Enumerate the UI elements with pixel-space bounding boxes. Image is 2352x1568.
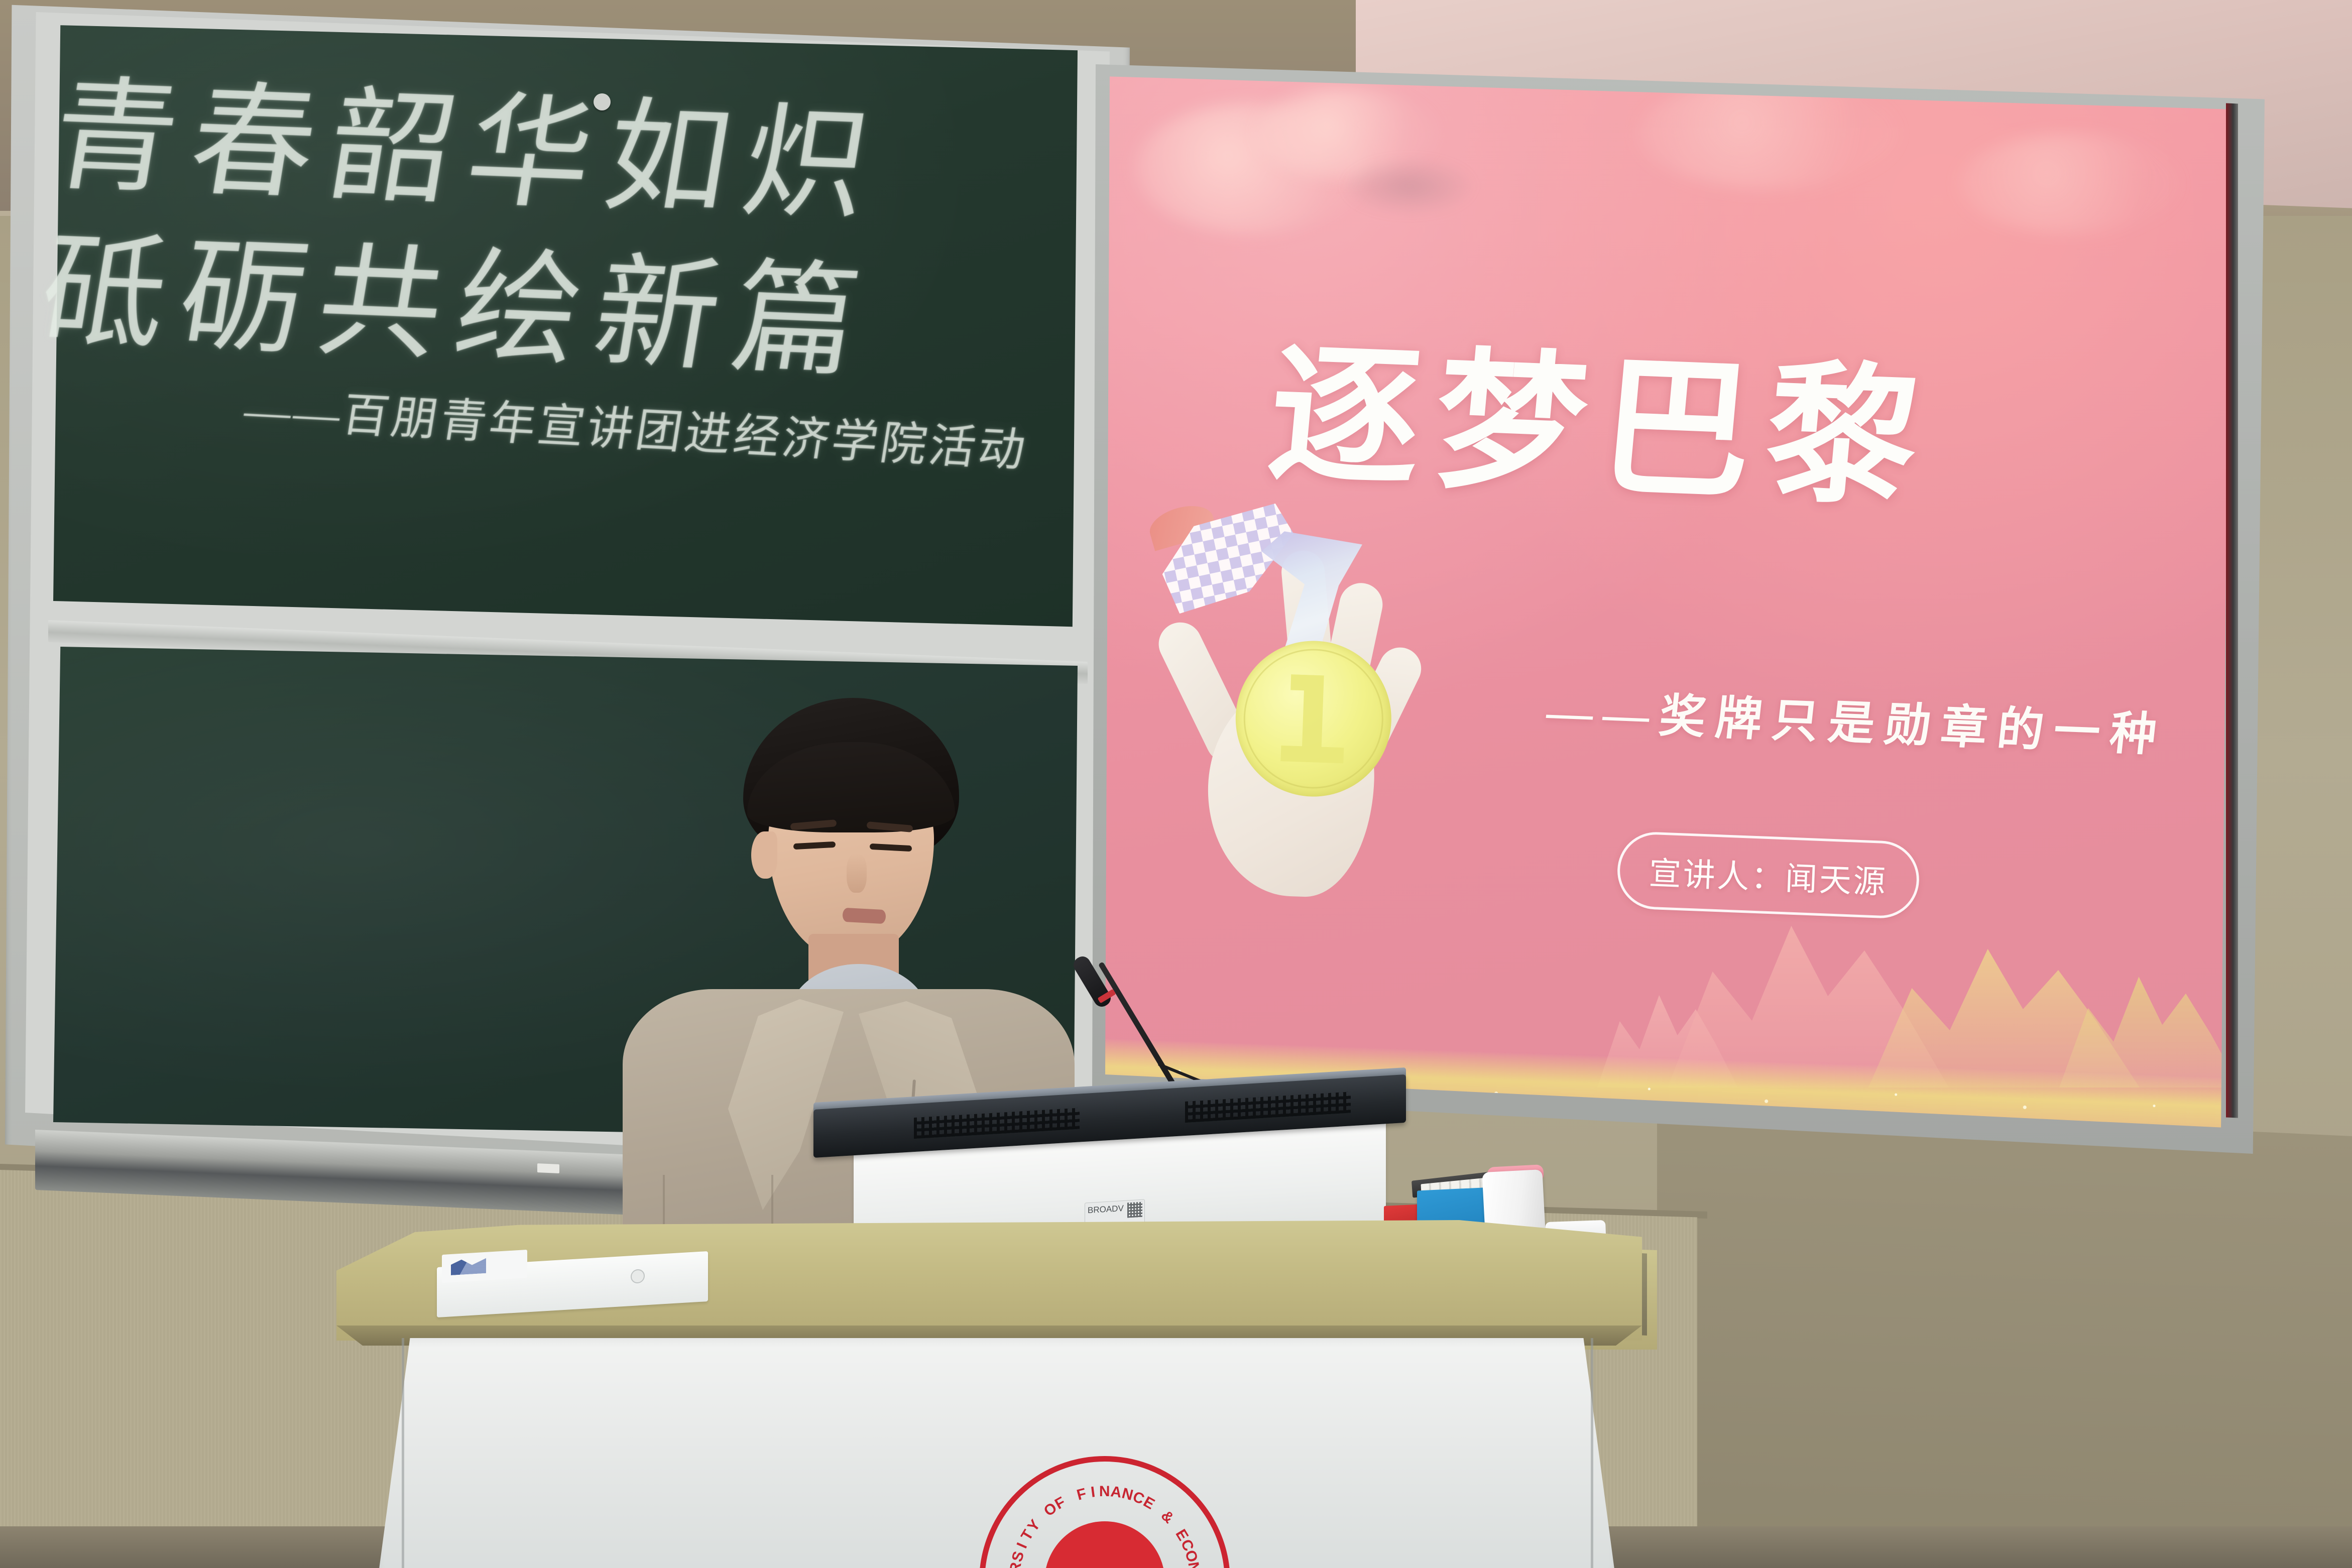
slide-title: 逐梦巴黎 — [1261, 292, 2184, 544]
logo-arc-text: UNIVERSITY OF FINANCE & ECONOMICS — [979, 1456, 1230, 1568]
tray-card — [442, 1250, 527, 1283]
logo-arc-letter: I — [1090, 1484, 1096, 1501]
screen-right-edge — [2226, 103, 2238, 1118]
logo-arc-letter: N — [1099, 1483, 1110, 1500]
blackboard-clip — [594, 93, 611, 110]
logo-arc-letter: F — [1075, 1485, 1089, 1504]
speaker-badge: 宣讲人：闻天源 — [1616, 831, 1920, 920]
right-wall-panel — [1657, 1105, 2352, 1568]
university-logo: UNIVERSITY OF FINANCE & ECONOMICS — [979, 1456, 1230, 1568]
hand-illustration — [1168, 511, 1444, 921]
nose — [847, 854, 867, 893]
mouth — [842, 908, 886, 924]
classroom-scene: 青春韶华如炽 砥砺共绘新篇 ——百朋青年宣讲团进经济学院活动 逐梦巴黎 ——奖牌… — [0, 0, 2352, 1568]
vent-grille — [914, 1108, 1080, 1139]
podium-seam — [402, 1338, 404, 1568]
chalk-headline-line-2: 砥砺共绘新篇 — [30, 190, 889, 401]
podium-seam — [1591, 1338, 1593, 1568]
panel-brand-text: BROADV — [1088, 1203, 1124, 1215]
logo-arc-letter: I — [1014, 1540, 1031, 1551]
tray-card-mark — [451, 1258, 486, 1275]
cloud-shadow — [1341, 156, 1477, 216]
mountain-silhouette — [2059, 967, 2230, 1088]
projection-screen: 逐梦巴黎 ——奖牌只是勋章的一种 宣讲人：闻天源 — [1092, 64, 2265, 1154]
medal-ring — [1241, 647, 1386, 791]
qr-code-icon — [1127, 1202, 1142, 1218]
vent-grille — [1185, 1092, 1351, 1123]
logo-arc-letter: & — [1157, 1507, 1178, 1527]
ear — [751, 831, 777, 879]
cloud-shape — [1959, 134, 2180, 234]
slide-subtitle: ——奖牌只是勋章的一种 — [1544, 674, 2230, 769]
slide-surface: 逐梦巴黎 ——奖牌只是勋章的一种 宣讲人：闻天源 — [1105, 73, 2230, 1133]
chalk-stick-icon — [537, 1163, 559, 1173]
